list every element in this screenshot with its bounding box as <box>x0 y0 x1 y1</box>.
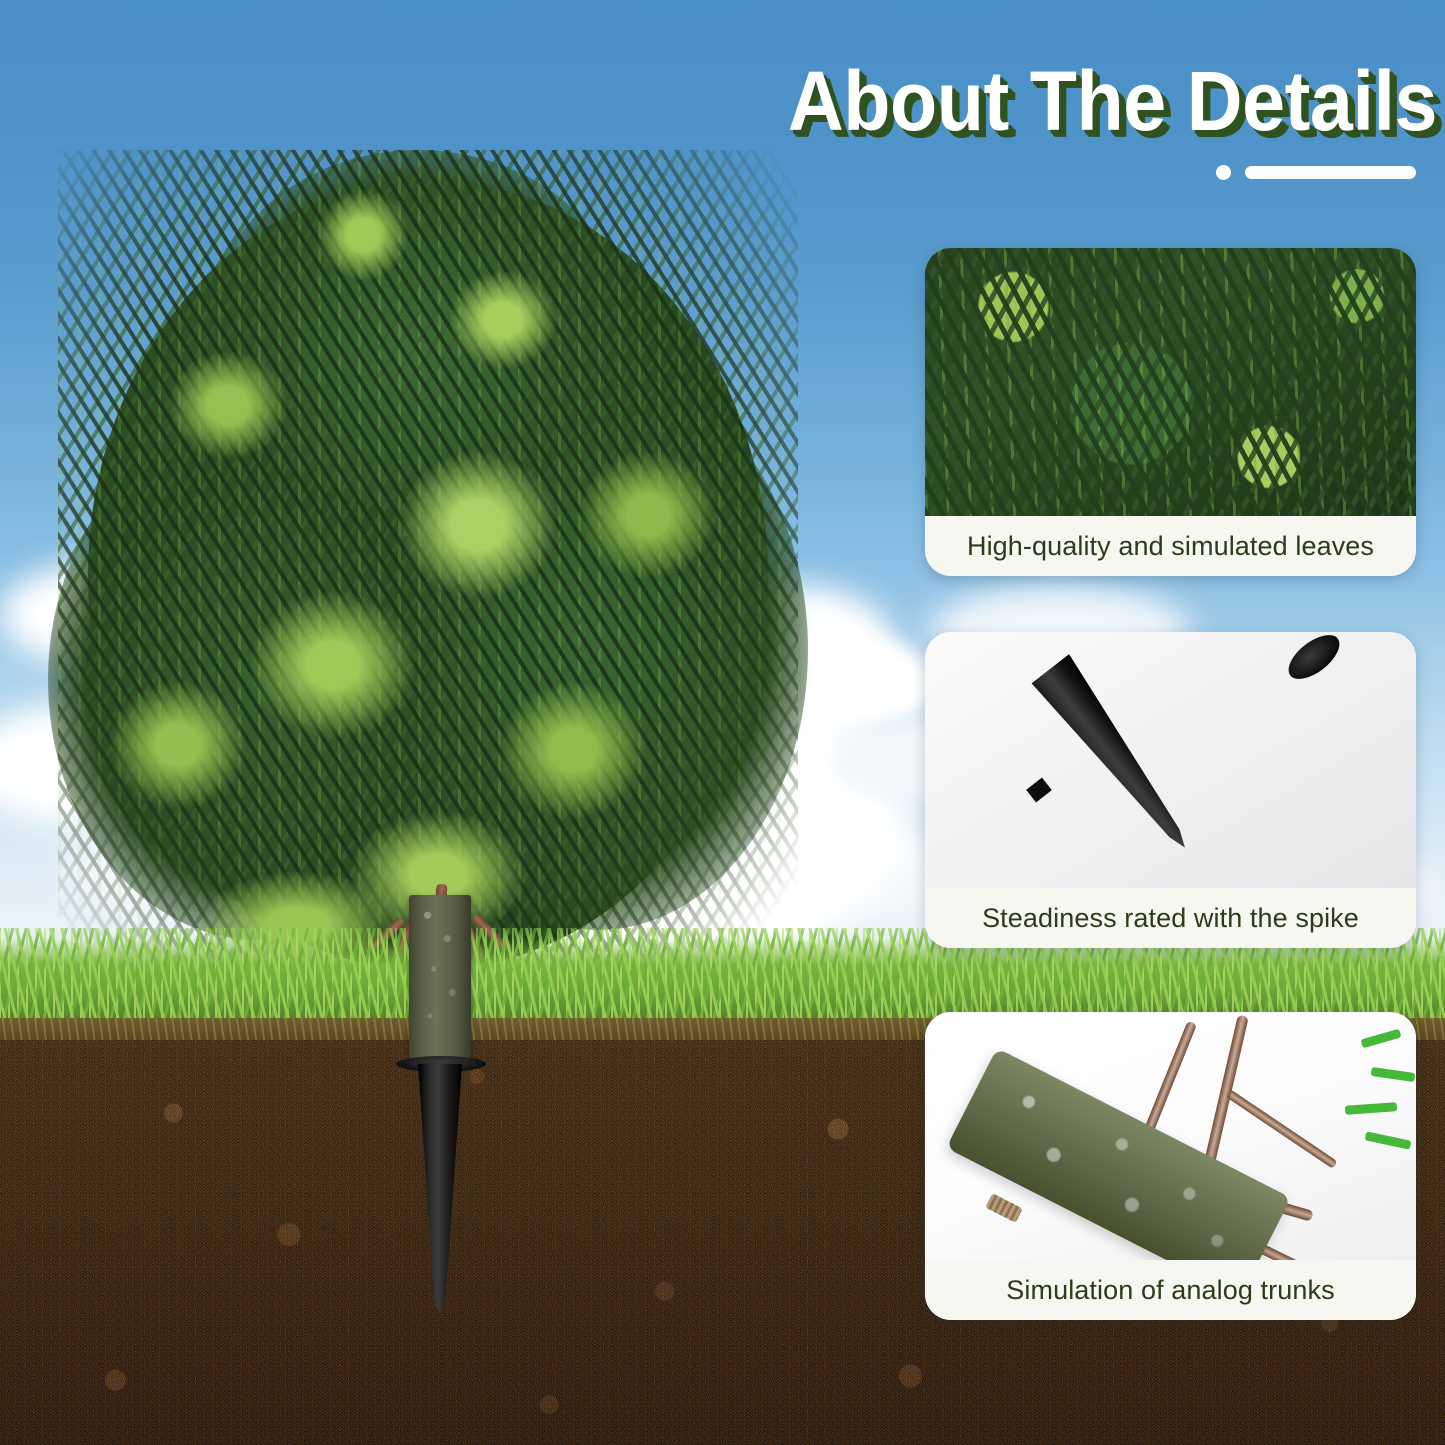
ground-spike-photo <box>925 632 1416 888</box>
feature-card-trunk[interactable]: Simulation of analog trunks <box>925 1012 1416 1320</box>
feature-card-caption: High-quality and simulated leaves <box>925 516 1416 576</box>
artificial-tree <box>18 120 838 950</box>
page-title: About The Details <box>635 46 1437 156</box>
spike-barb <box>1026 778 1052 803</box>
title-divider <box>1216 162 1416 182</box>
spike-head-flange <box>1281 632 1347 687</box>
feature-card-caption: Simulation of analog trunks <box>925 1260 1416 1320</box>
foliage-highlight <box>398 450 558 600</box>
feature-card-spike[interactable]: Steadiness rated with the spike <box>925 632 1416 948</box>
trunk-screw-thread <box>985 1193 1023 1223</box>
trunk-leaf-stub <box>1365 1131 1412 1149</box>
spike-shaft <box>1023 654 1207 866</box>
foliage-highlight <box>498 680 648 820</box>
trunk-branch <box>1204 1015 1248 1164</box>
foliage-highlight <box>108 680 248 810</box>
foliage-highlight <box>448 270 558 370</box>
trunk-leaf-stub <box>1361 1029 1402 1049</box>
analog-trunk-body <box>946 1048 1291 1260</box>
foliage-macro-photo <box>925 248 1416 516</box>
divider-dot-icon <box>1216 165 1231 180</box>
trunk-branch <box>1143 1020 1197 1135</box>
trunk-leaf-stub <box>1345 1102 1398 1115</box>
tree-trunk <box>409 895 471 1063</box>
feature-card-leaves[interactable]: High-quality and simulated leaves <box>925 248 1416 576</box>
analog-trunk-macro-photo <box>925 1012 1416 1260</box>
feature-card-caption: Steadiness rated with the spike <box>925 888 1416 948</box>
trunk-branch <box>1225 1089 1338 1169</box>
product-detail-infographic: About The Details High-quality and simul… <box>0 0 1445 1445</box>
foliage-highlight <box>578 450 718 580</box>
foliage-highlight <box>248 590 418 740</box>
divider-bar <box>1245 166 1416 179</box>
foliage-highlight <box>168 350 288 460</box>
trunk-leaf-stub <box>1371 1067 1416 1082</box>
foliage-highlight <box>318 190 408 280</box>
